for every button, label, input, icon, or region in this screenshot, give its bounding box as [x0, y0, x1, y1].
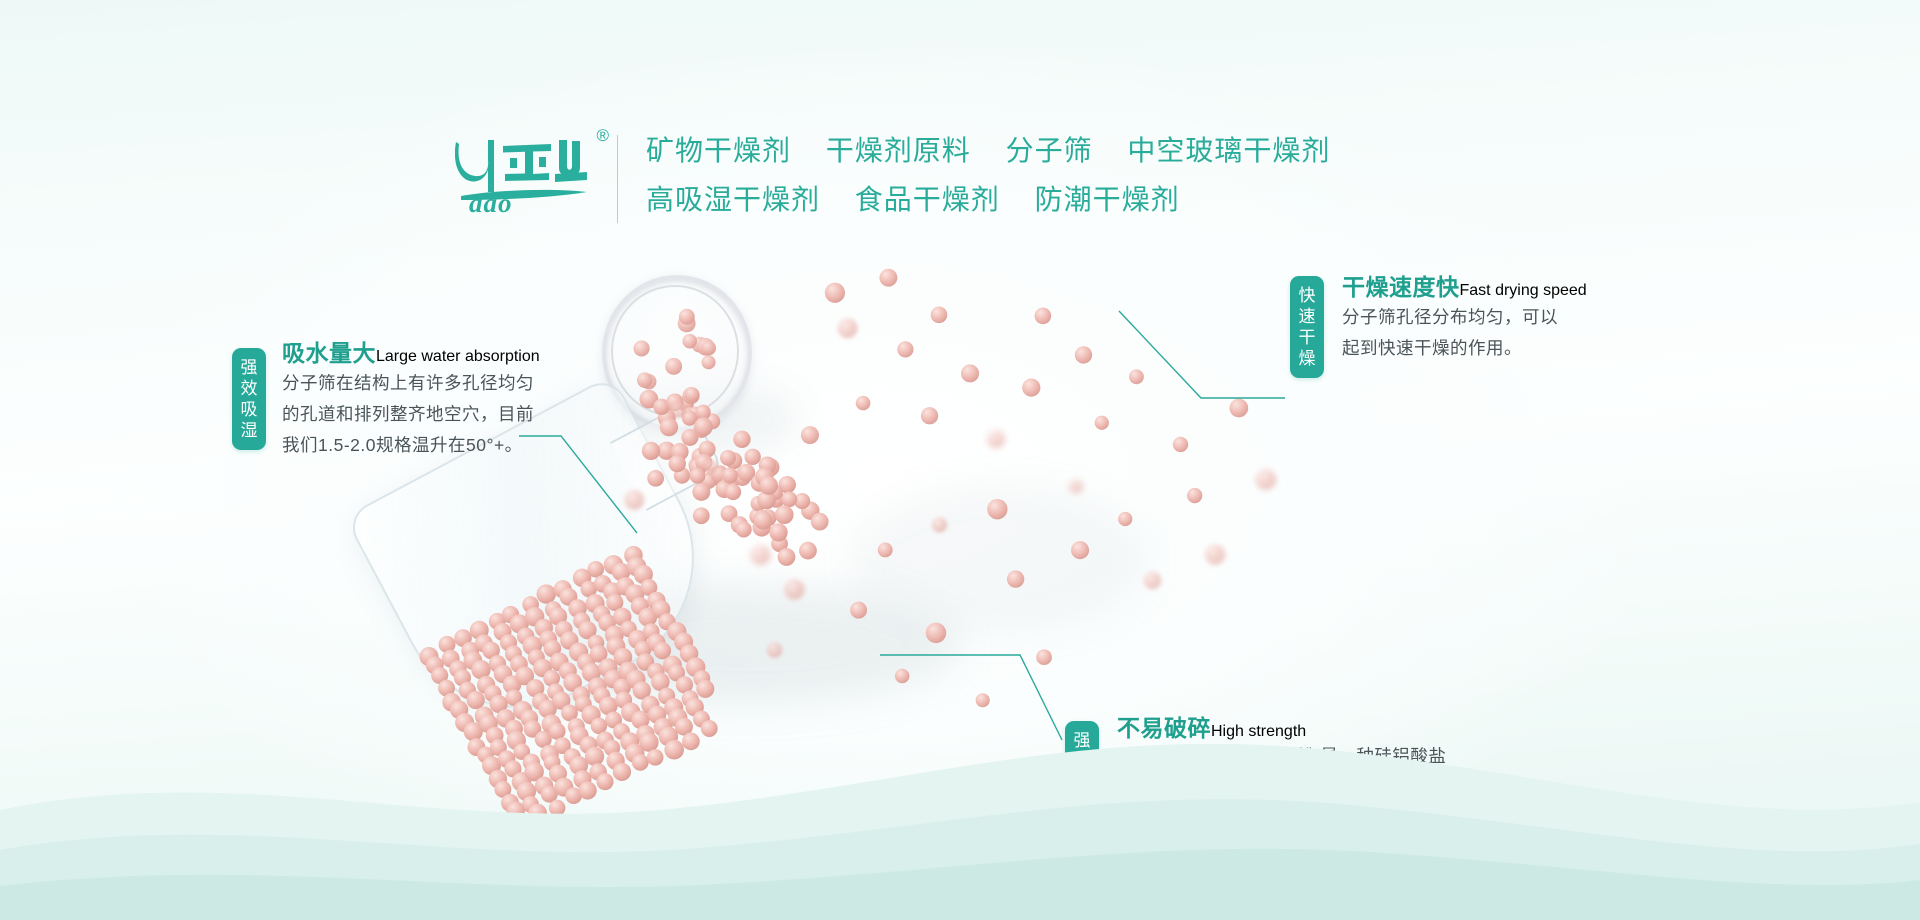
banner-root: ® aao 矿物干燥剂 干燥剂原料 分子筛 中空玻璃干燥剂 高吸湿干燥剂 食品干…: [0, 0, 1920, 920]
callout-tag-absorption: 强 效 吸 湿: [232, 348, 266, 450]
tag-char: 强: [232, 357, 266, 378]
tag-char: 燥: [1290, 348, 1324, 369]
tag-char: 湿: [232, 420, 266, 441]
callout-heading: 干燥速度快Fast drying speed: [1342, 268, 1587, 302]
callout-title-en: Fast drying speed: [1460, 282, 1587, 299]
callout-title-cn: 吸水量大: [282, 340, 376, 366]
callout-body: 分子筛孔径分布均匀，可以 起到快速干燥的作用。: [1342, 302, 1652, 364]
callout-tag-speed: 快 速 干 燥: [1290, 276, 1324, 378]
tag-char: 速: [1290, 306, 1324, 327]
decorative-wave-band: [0, 690, 1920, 920]
callout-title-en: Large water absorption: [376, 348, 540, 365]
callout-heading: 吸水量大Large water absorption: [282, 334, 540, 368]
tag-char: 快: [1290, 285, 1324, 306]
tag-char: 干: [1290, 327, 1324, 348]
leader-speed: [1119, 311, 1285, 398]
callout-title-cn: 干燥速度快: [1342, 274, 1460, 300]
callout-body: 分子筛在结构上有许多孔径均匀 的孔道和排列整齐地空穴，目前 我们1.5-2.0规…: [282, 368, 562, 461]
tag-char: 吸: [232, 399, 266, 420]
tag-char: 效: [232, 378, 266, 399]
